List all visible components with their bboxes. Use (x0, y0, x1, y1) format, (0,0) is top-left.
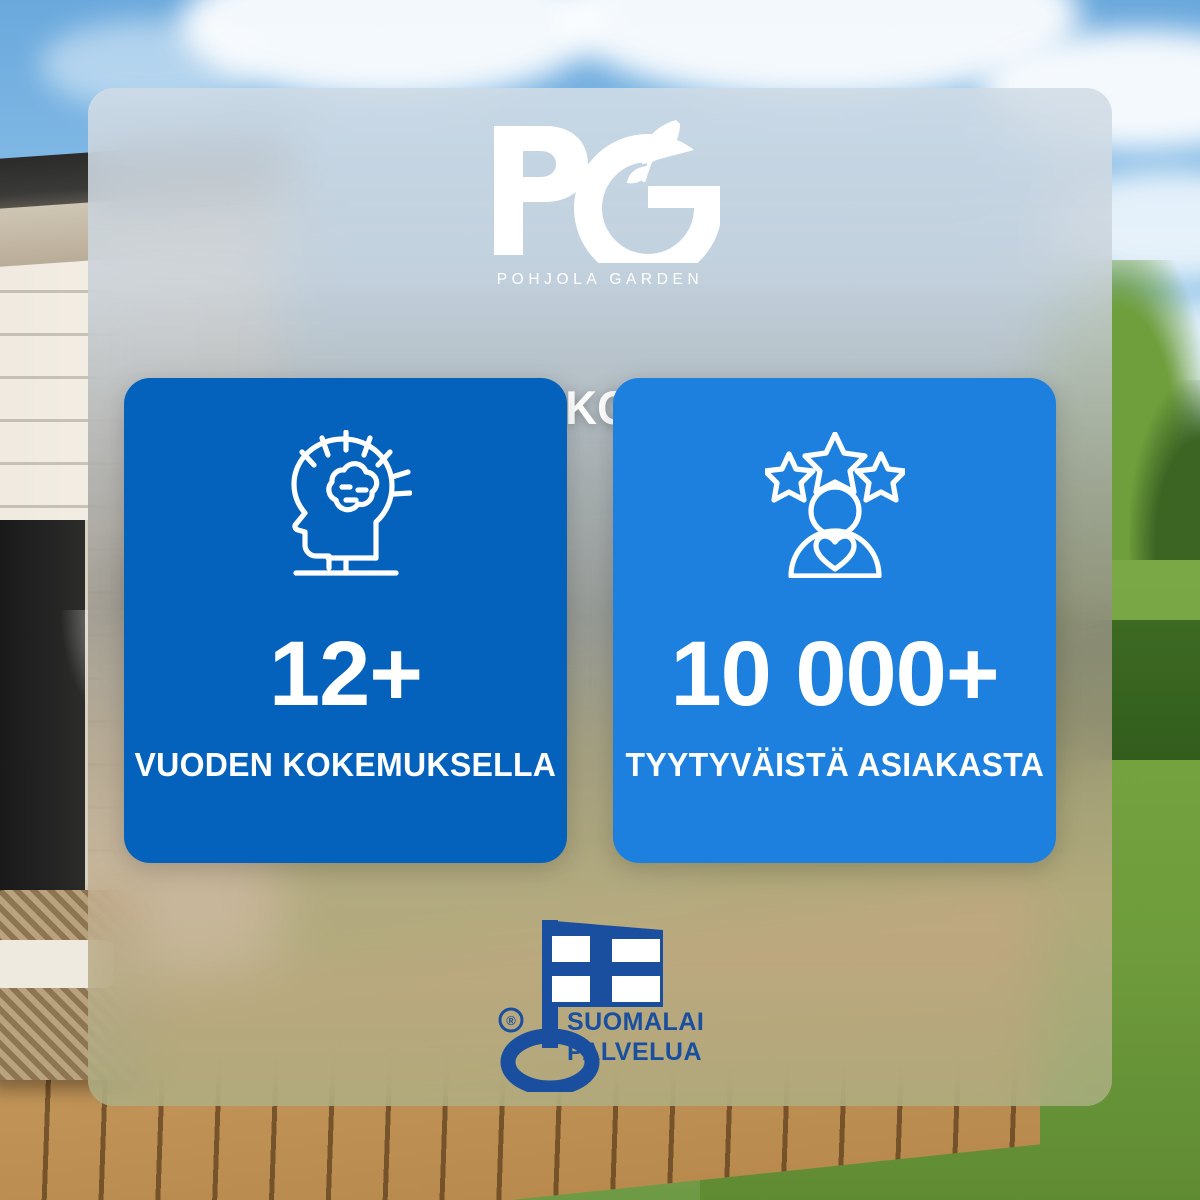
badge-line-1: SUOMALAISTA (567, 1008, 705, 1036)
brand-wordmark: POHJOLA GARDEN (497, 271, 704, 289)
stat-number: 12+ (269, 628, 422, 720)
stat-number: 10 000+ (670, 628, 998, 720)
brand-logo: POHJOLA GARDEN (88, 118, 1112, 289)
avainlippu-badge[interactable]: ® SUOMALAISTA PALVELUA (88, 902, 1112, 1092)
badge-line-2: PALVELUA (567, 1038, 702, 1066)
stats-card-row: 12+ VUODEN KOKEMUKSELLA (124, 378, 1076, 863)
frosted-panel: POHJOLA GARDEN KESTÄVÄ VALINTA KOTIMAISE… (88, 88, 1112, 1106)
stat-card-experience[interactable]: 12+ VUODEN KOKEMUKSELLA (124, 378, 567, 863)
finnish-key-flag-avainlippu-icon: ® SUOMALAISTA PALVELUA (495, 902, 705, 1092)
stat-label: VUODEN KOKEMUKSELLA (135, 746, 557, 784)
stat-label: TYYTYVÄISTÄ ASIAKASTA (625, 746, 1044, 784)
pg-leaf-monogram-logo-icon (480, 118, 720, 263)
registered-mark: ® (506, 1013, 516, 1028)
person-with-stars-heart-icon (765, 430, 905, 580)
promo-graphic: POHJOLA GARDEN KESTÄVÄ VALINTA KOTIMAISE… (0, 0, 1200, 1200)
stat-card-customers[interactable]: 10 000+ TYYTYVÄISTÄ ASIAKASTA (613, 378, 1056, 863)
head-with-brain-idea-icon (280, 430, 412, 580)
